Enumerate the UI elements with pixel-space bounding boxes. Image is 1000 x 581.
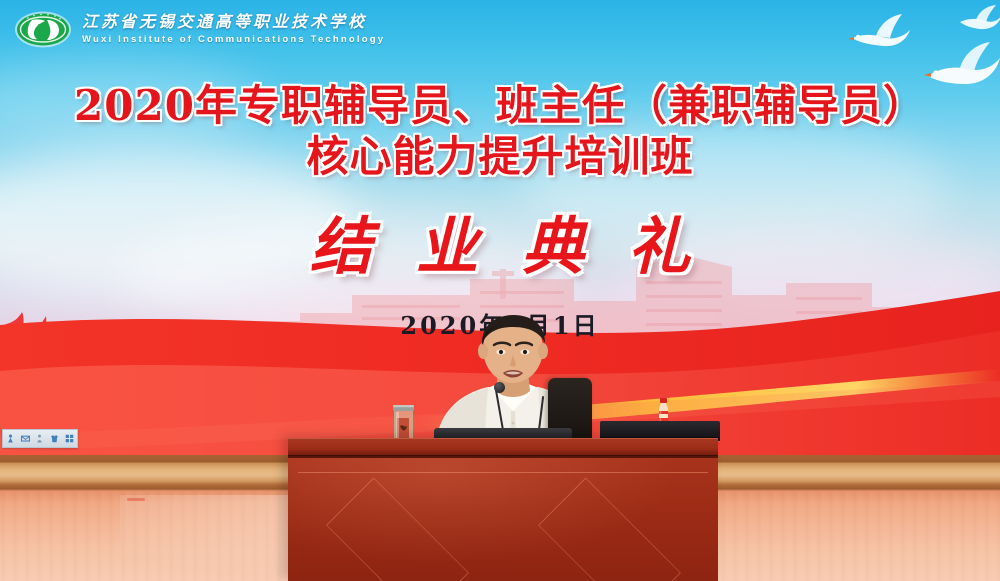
cloud-wisp — [620, 230, 1000, 340]
cloud-wisp — [0, 55, 260, 145]
cloud-wisp — [520, 120, 950, 260]
person-icon — [35, 434, 44, 443]
dove-icon — [846, 8, 920, 52]
screenshot-scene: 江苏省无锡交通高等职业技术学校 Wuxi Institute of Commun… — [0, 0, 1000, 581]
microphone-head — [494, 382, 505, 393]
school-name-cn: 江苏省无锡交通高等职业技术学校 — [82, 14, 385, 30]
school-name-en: Wuxi Institute of Communications Technol… — [82, 35, 385, 45]
ceremony-title: 结业典礼 — [0, 196, 1000, 286]
red-lecture-podium — [288, 438, 718, 581]
podium-front-panel — [288, 458, 718, 581]
school-name-block: 江苏省无锡交通高等职业技术学校 Wuxi Institute of Commun… — [82, 14, 385, 45]
red-flame-ribbon-icon — [0, 300, 60, 390]
person-icon — [6, 434, 15, 443]
facility-pictogram-sign — [2, 429, 78, 448]
cloud-wisp — [0, 150, 360, 300]
podium-diamond-panel — [538, 478, 681, 581]
event-title-block: 2020年专职辅导员、班主任（兼职辅导员） 核心能力提升培训班 — [0, 82, 1000, 180]
event-title-line-2: 核心能力提升培训班 — [0, 133, 1000, 180]
tea-cup — [393, 404, 414, 442]
shirt-icon — [50, 434, 59, 443]
envelope-icon — [21, 434, 30, 443]
dove-icon — [956, 2, 1000, 32]
grid-icon — [65, 434, 74, 443]
podium-trim-line — [298, 472, 708, 473]
podium-diamond-panel — [326, 478, 469, 581]
podium-top-surface — [288, 438, 718, 456]
dove-icon — [924, 36, 1000, 88]
event-title-line-1: 2020年专职辅导员、班主任（兼职辅导员） — [0, 82, 1000, 129]
floor-scuff-mark — [127, 498, 145, 501]
backdrop-header: 江苏省无锡交通高等职业技术学校 Wuxi Institute of Commun… — [0, 0, 1000, 58]
school-emblem-icon — [14, 10, 72, 49]
